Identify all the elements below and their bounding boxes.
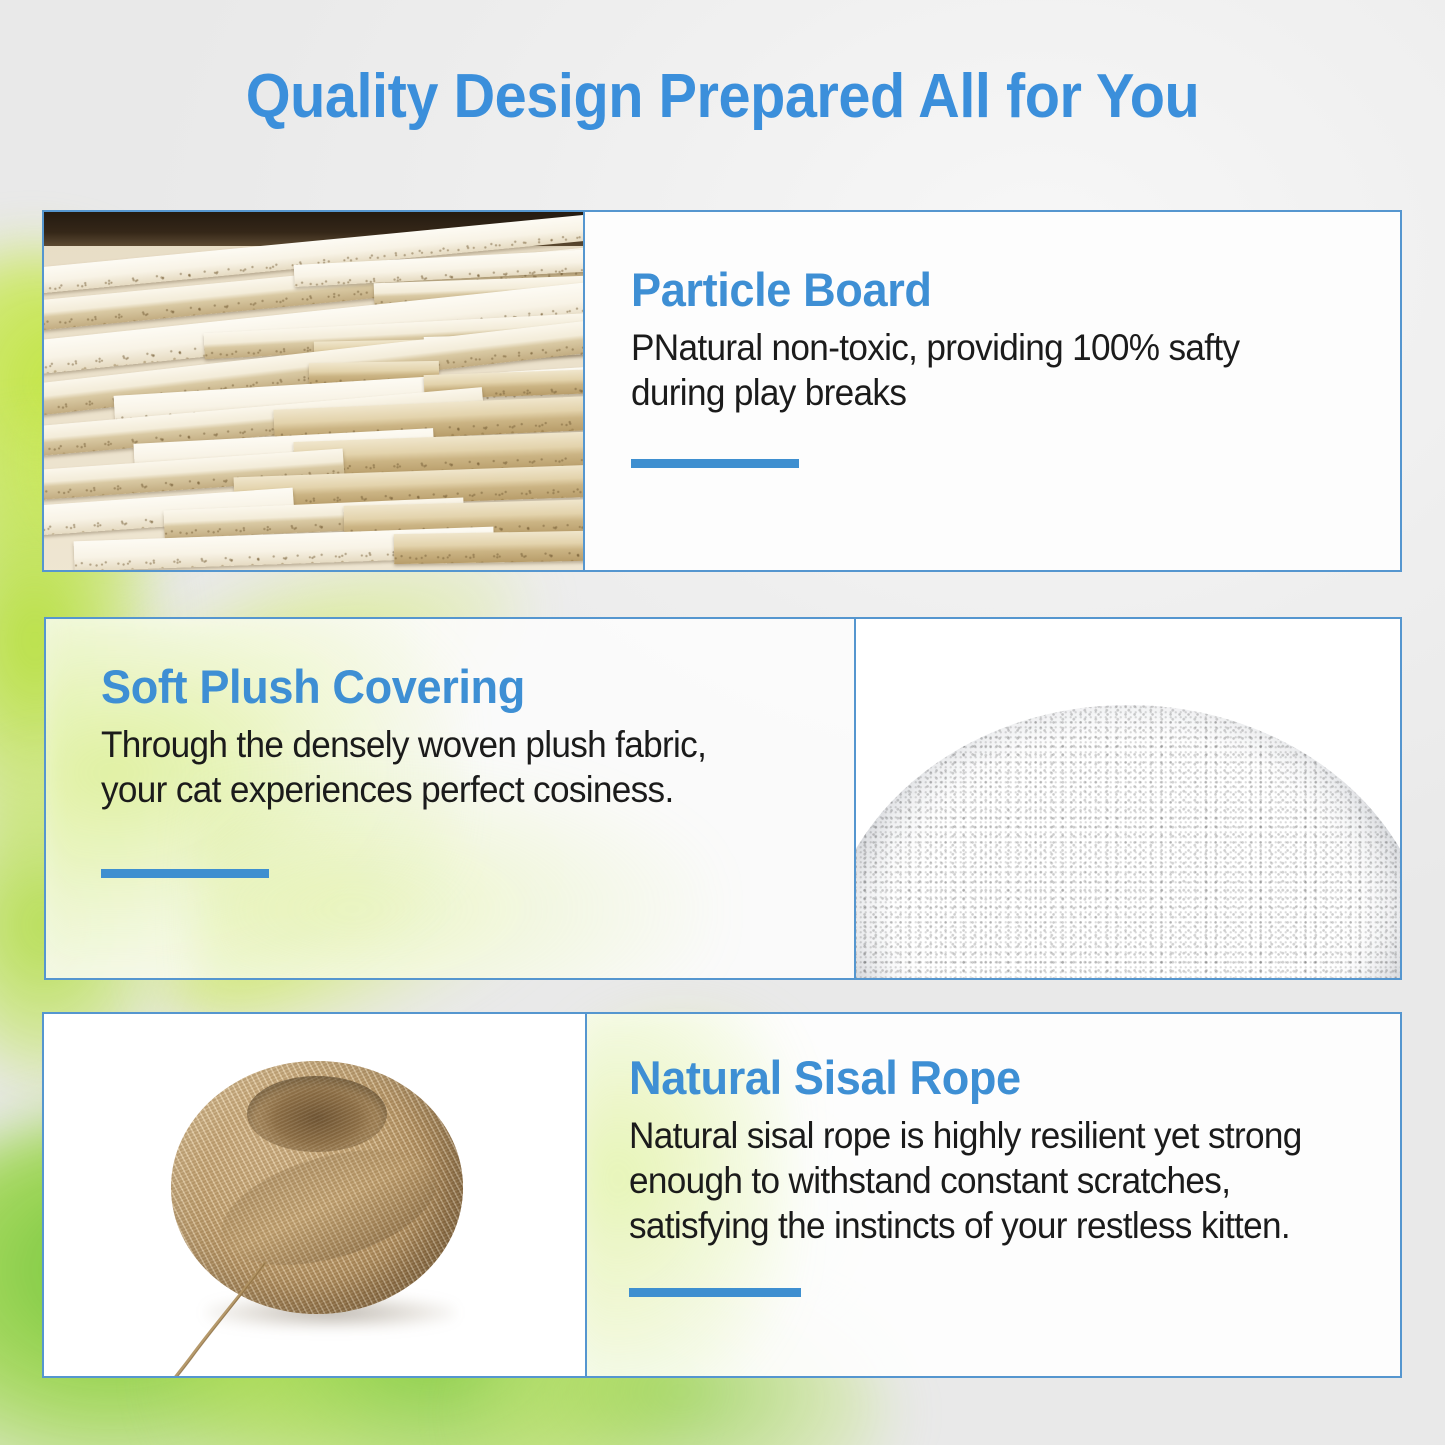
feature-text-block: Particle Board PNatural non-toxic, provi… bbox=[585, 212, 1400, 570]
feature-heading: Soft Plush Covering bbox=[101, 663, 785, 712]
feature-heading: Natural Sisal Rope bbox=[629, 1054, 1335, 1103]
sisal-rope-ball-image bbox=[44, 1014, 585, 1376]
feature-heading: Particle Board bbox=[631, 266, 1331, 315]
page-title: Quality Design Prepared All for You bbox=[51, 66, 1395, 128]
blue-plush-cushion-image bbox=[856, 619, 1400, 978]
accent-underline bbox=[101, 869, 269, 878]
feature-panel-natural-sisal-rope: Natural Sisal Rope Natural sisal rope is… bbox=[42, 1012, 1402, 1378]
feature-description: Through the densely woven plush fabric, … bbox=[101, 722, 766, 812]
particle-board-stack-image bbox=[44, 212, 583, 570]
feature-panel-soft-plush-covering: Soft Plush Covering Through the densely … bbox=[44, 617, 1402, 980]
feature-text-block: Natural Sisal Rope Natural sisal rope is… bbox=[587, 1014, 1400, 1376]
accent-underline bbox=[631, 459, 799, 468]
infographic-canvas: Quality Design Prepared All for You bbox=[0, 0, 1445, 1445]
feature-text-block: Soft Plush Covering Through the densely … bbox=[46, 619, 854, 978]
accent-underline bbox=[629, 1288, 801, 1297]
feature-panel-particle-board: Particle Board PNatural non-toxic, provi… bbox=[42, 210, 1402, 572]
feature-description: PNatural non-toxic, providing 100% safty… bbox=[631, 325, 1324, 415]
feature-description: Natural sisal rope is highly resilient y… bbox=[629, 1113, 1327, 1248]
